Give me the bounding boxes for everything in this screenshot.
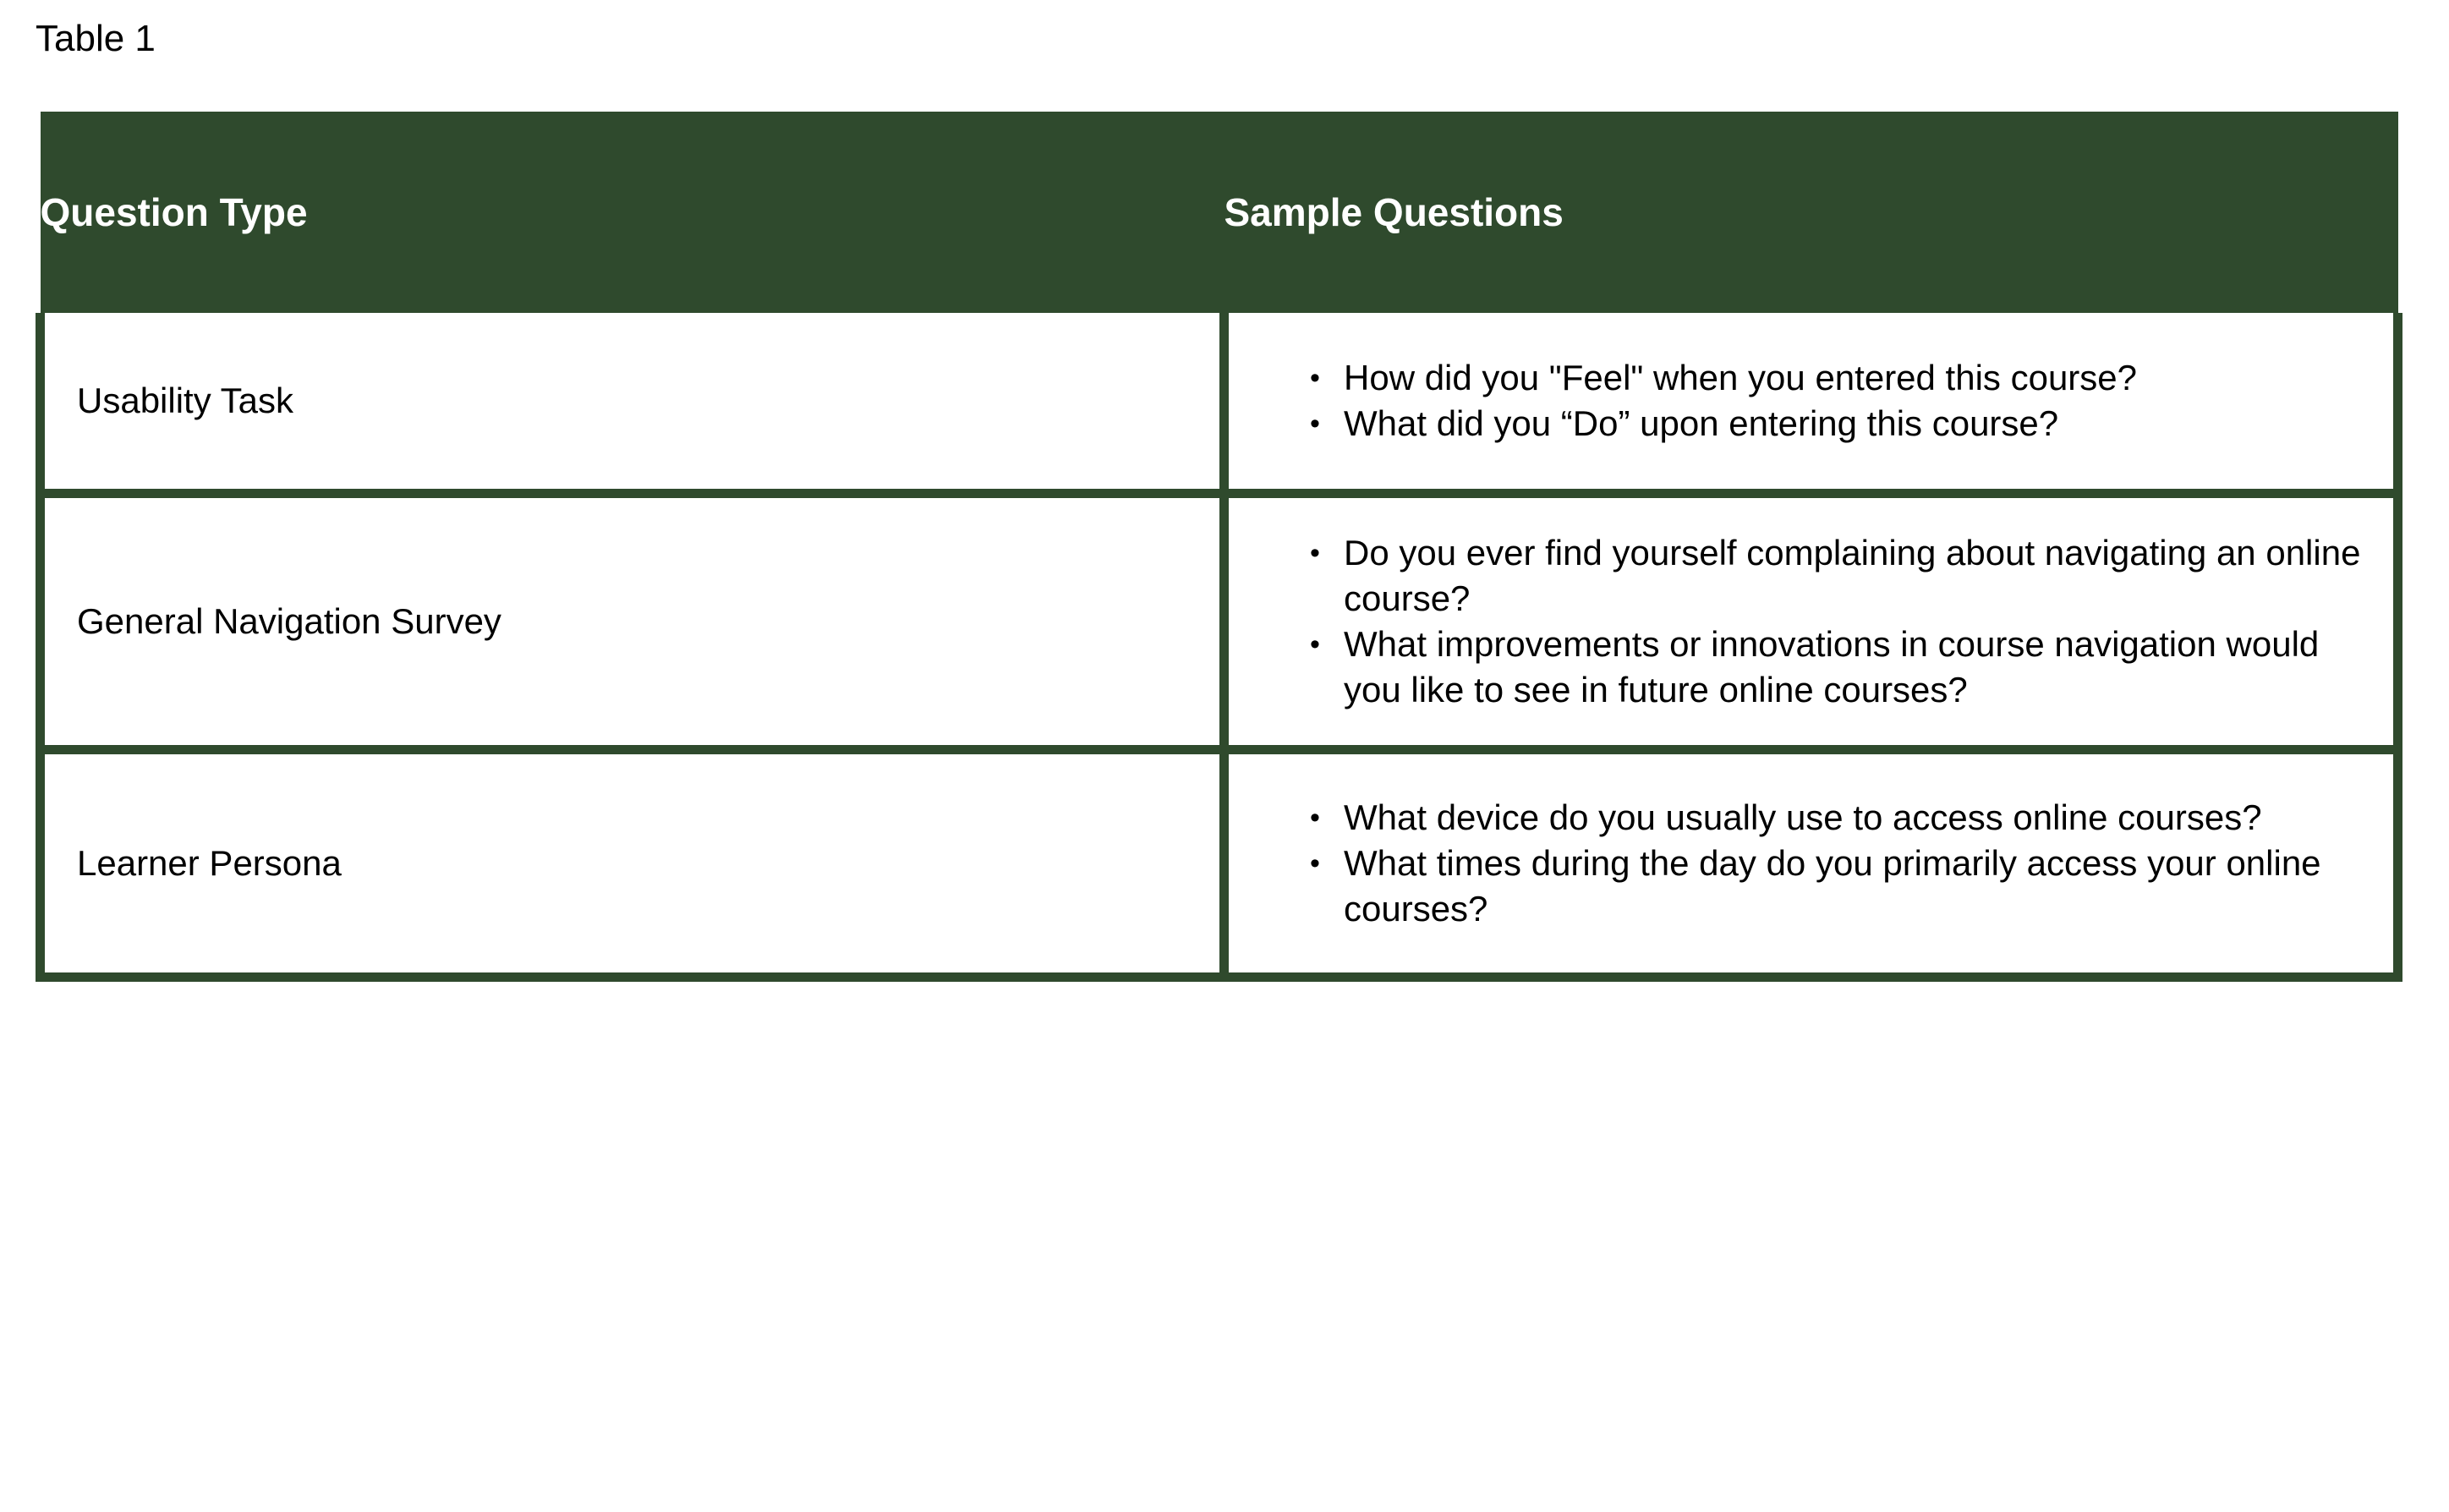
table-caption: Table 1 [36, 15, 156, 63]
list-item: What device do you usually use to access… [1310, 795, 2364, 841]
table-page: Table 1 Question Type Sample Questions U… [0, 0, 2449, 1512]
list-item: Do you ever find yourself complaining ab… [1310, 530, 2364, 622]
list-item: What times during the day do you primari… [1310, 841, 2364, 932]
column-header-question-type: Question Type [41, 112, 1224, 313]
column-header-sample-questions: Sample Questions [1224, 112, 2398, 313]
list-item: How did you "Feel" when you entered this… [1310, 355, 2364, 401]
list-item: What improvements or innovations in cour… [1310, 622, 2364, 713]
cell-question-type: General Navigation Survey [41, 494, 1224, 750]
sample-question-list: What device do you usually use to access… [1229, 795, 2393, 932]
cell-question-type: Usability Task [41, 313, 1224, 494]
question-type-label: Learner Persona [45, 841, 1219, 885]
table-body: Usability Task How did you "Feel" when y… [41, 313, 2398, 978]
sample-question-list: How did you "Feel" when you entered this… [1229, 355, 2393, 446]
table-row: Usability Task How did you "Feel" when y… [41, 313, 2398, 494]
question-type-table: Question Type Sample Questions Usability… [36, 112, 2402, 982]
list-item: What did you “Do” upon entering this cou… [1310, 401, 2364, 446]
cell-question-type: Learner Persona [41, 750, 1224, 978]
cell-sample-questions: Do you ever find yourself complaining ab… [1224, 494, 2398, 750]
table-header: Question Type Sample Questions [41, 112, 2398, 313]
question-type-label: General Navigation Survey [45, 600, 1219, 644]
table-row: General Navigation Survey Do you ever fi… [41, 494, 2398, 750]
sample-question-list: Do you ever find yourself complaining ab… [1229, 530, 2393, 713]
table-header-row: Question Type Sample Questions [41, 112, 2398, 313]
question-type-label: Usability Task [45, 379, 1219, 423]
cell-sample-questions: What device do you usually use to access… [1224, 750, 2398, 978]
question-table-container: Question Type Sample Questions Usability… [36, 112, 2393, 982]
table-row: Learner Persona What device do you usual… [41, 750, 2398, 978]
cell-sample-questions: How did you "Feel" when you entered this… [1224, 313, 2398, 494]
